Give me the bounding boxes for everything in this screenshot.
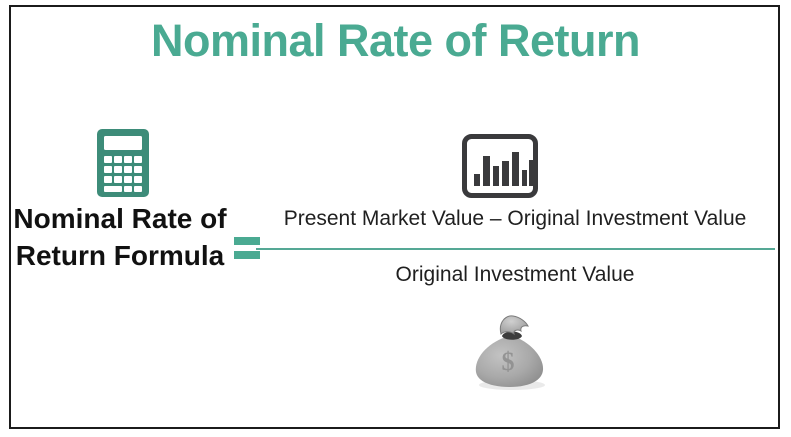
formula-numerator: Present Market Value – Original Investme… [255,207,775,231]
formula-label: Nominal Rate of Return Formula [6,200,234,274]
fraction-bar [256,248,775,250]
bar-chart-icon [462,134,538,198]
dollar-sign-glyph: $ [502,347,515,376]
formula-denominator: Original Investment Value [255,263,775,287]
equals-bar-bottom [234,251,260,259]
formula-illustration-canvas: Nominal Rate of Return [0,0,791,437]
equals-bar-top [234,237,260,245]
page-title: Nominal Rate of Return [0,16,791,66]
money-bag-icon: $ [468,312,552,392]
calculator-icon [97,129,149,197]
